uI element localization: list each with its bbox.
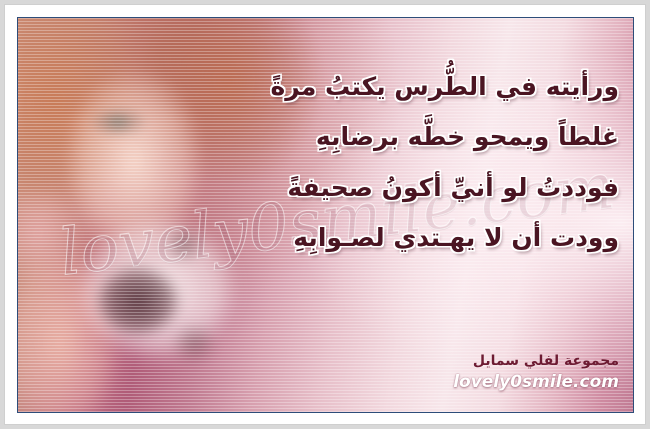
poem-line-3: فوددتُ لو أنيِّ أكونُ صحيفةً [32, 175, 619, 201]
site-signature: مجموعة لفلي سمايل lovely0smile.com [453, 353, 619, 392]
poem-block: ورأيته في الطُّرس يكتبُ مرةً غلطاً ويمحو… [18, 74, 633, 251]
poetry-image: lovely0smile.com ورأيته في الطُّرس يكتبُ… [17, 17, 634, 413]
white-mat-border: lovely0smile.com ورأيته في الطُّرس يكتبُ… [4, 4, 646, 425]
signature-arabic-label: مجموعة لفلي سمايل [453, 353, 619, 371]
signature-url[interactable]: lovely0smile.com [453, 372, 619, 392]
image-frame: lovely0smile.com ورأيته في الطُّرس يكتبُ… [0, 0, 650, 429]
poem-line-4: وودت أن لا يهـتدي لصـوابِهِ [32, 225, 619, 251]
poem-line-1: ورأيته في الطُّرس يكتبُ مرةً [32, 74, 619, 100]
poem-line-2: غلطاً ويمحو خطَّه برضابِهِ [32, 124, 619, 150]
